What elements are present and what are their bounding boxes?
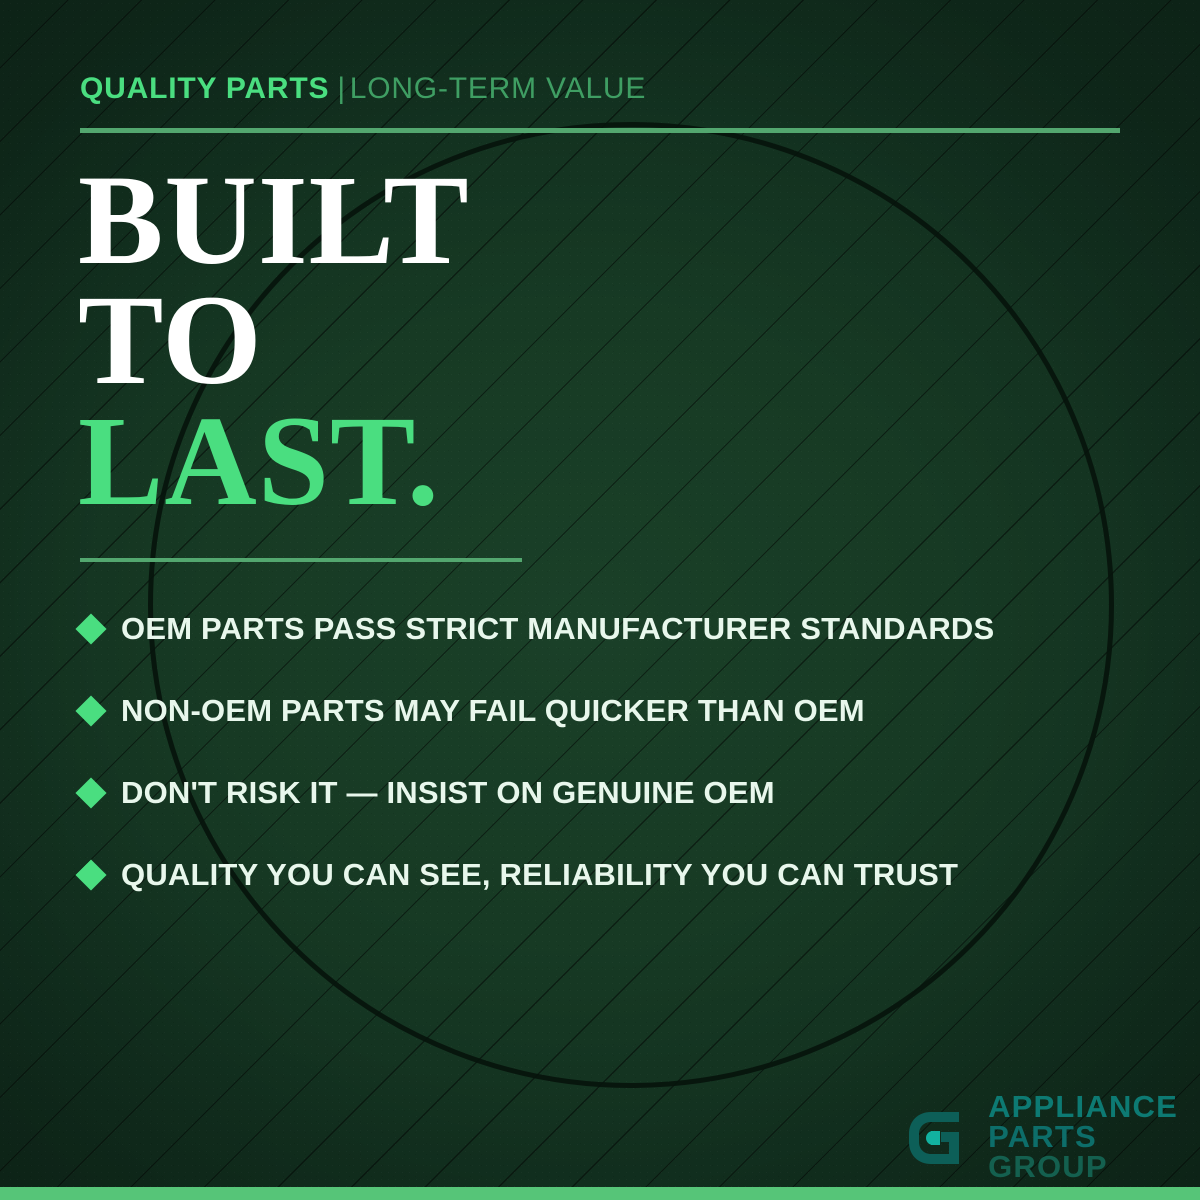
headline-line-1: BUILT — [78, 160, 470, 280]
diamond-bullet-icon — [75, 777, 106, 808]
headline-line-3: LAST. — [78, 401, 470, 521]
list-item: NON-OEM PARTS MAY FAIL QUICKER THAN OEM — [80, 670, 1160, 752]
page-title: BUILT TO LAST. — [78, 160, 470, 521]
benefit-list: OEM PARTS PASS STRICT MANUFACTURER STAND… — [80, 588, 1160, 916]
brand-line-group: GROUP — [988, 1152, 1178, 1182]
eyebrow-main-label: QUALITY PARTS — [80, 72, 329, 105]
diamond-bullet-icon — [75, 859, 106, 890]
list-item-label: DON'T RISK IT — INSIST ON GENUINE OEM — [121, 775, 775, 811]
divider-top — [80, 128, 1120, 133]
eyebrow-separator: | — [337, 72, 345, 105]
divider-mid — [80, 558, 522, 562]
diamond-bullet-icon — [75, 613, 106, 644]
g-monogram-icon — [897, 1098, 975, 1176]
list-item-label: NON-OEM PARTS MAY FAIL QUICKER THAN OEM — [121, 693, 865, 729]
headline-line-2: TO — [78, 280, 470, 400]
list-item: DON'T RISK IT — INSIST ON GENUINE OEM — [80, 752, 1160, 834]
list-item-label: OEM PARTS PASS STRICT MANUFACTURER STAND… — [121, 611, 994, 647]
list-item: OEM PARTS PASS STRICT MANUFACTURER STAND… — [80, 588, 1160, 670]
poster-content: QUALITY PARTS|LONG-TERM VALUE BUILT TO L… — [0, 0, 1200, 1200]
diamond-bullet-icon — [75, 695, 106, 726]
bottom-accent-bar — [0, 1187, 1200, 1200]
brand-line-appliance: APPLIANCE — [988, 1092, 1178, 1122]
eyebrow-sub-label: LONG-TERM VALUE — [350, 72, 647, 105]
eyebrow: QUALITY PARTS|LONG-TERM VALUE — [80, 74, 646, 104]
brand-line-parts: PARTS — [988, 1122, 1178, 1152]
brand-logo-wordmark: APPLIANCE PARTS GROUP — [988, 1092, 1178, 1182]
poster-canvas: QUALITY PARTS|LONG-TERM VALUE BUILT TO L… — [0, 0, 1200, 1200]
brand-logo: APPLIANCE PARTS GROUP — [897, 1092, 1178, 1182]
list-item-label: QUALITY YOU CAN SEE, RELIABILITY YOU CAN… — [121, 857, 958, 893]
list-item: QUALITY YOU CAN SEE, RELIABILITY YOU CAN… — [80, 834, 1160, 916]
